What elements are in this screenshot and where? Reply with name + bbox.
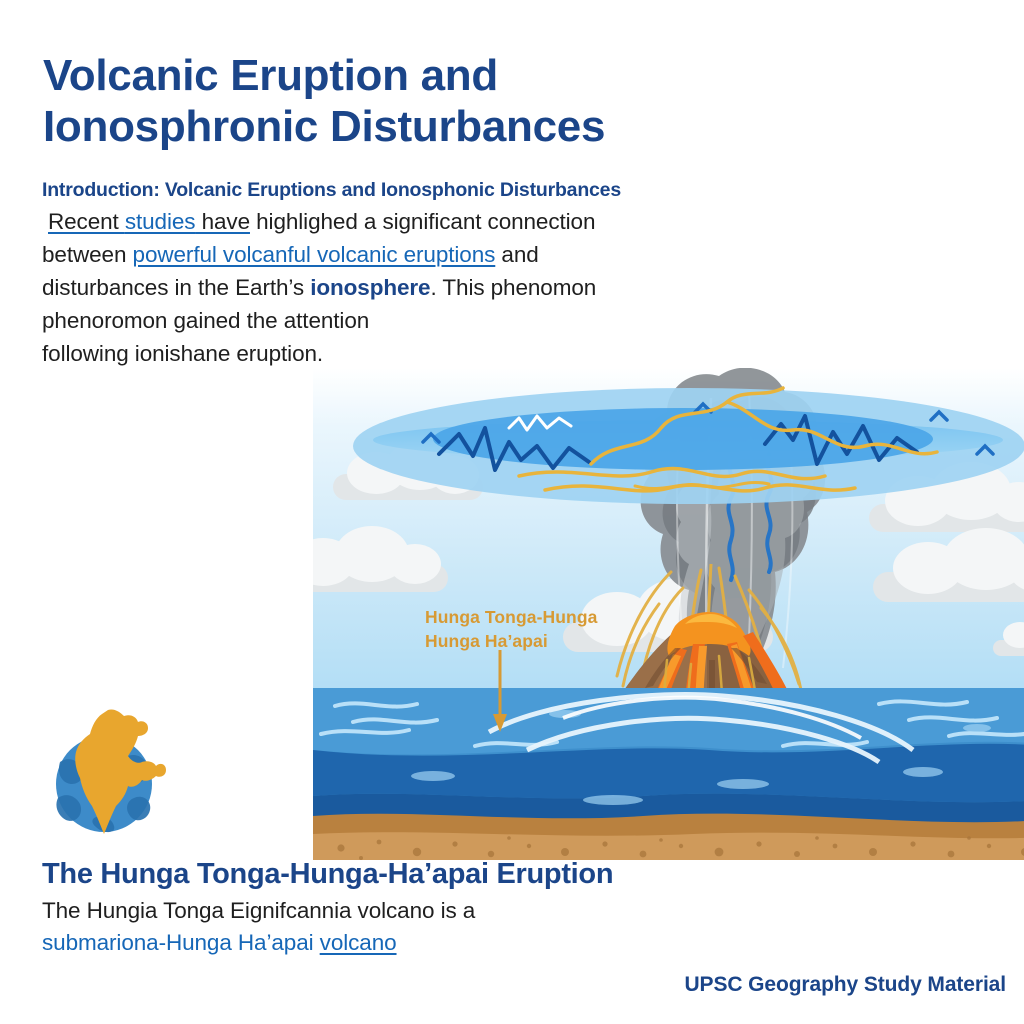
page-title-line-2: Ionosphronic Disturbances <box>43 102 843 153</box>
intro-line-5: following ionishane eruption. <box>42 338 842 371</box>
ocean <box>313 688 1024 860</box>
eruption-line-2-text: submariona-Hunga Ha’apai <box>42 930 320 955</box>
introduction-body: Recent studies have highlighed a signifi… <box>42 206 842 370</box>
eruption-line-1: The Hungia Tonga Eignifcannia volcano is… <box>42 895 842 928</box>
footer-note: UPSC Geography Study Material <box>684 973 1006 997</box>
intro-text-highlighted: highlighed a significant connection <box>250 209 595 234</box>
page-title-line-1: Volcanic Eruption and <box>43 51 498 100</box>
intro-line-1: Recent studies have highlighed a signifi… <box>42 206 842 239</box>
powerful-volcanic-eruptions-link[interactable]: powerful volcanful volcanic eruptions <box>133 242 496 267</box>
intro-text-and: and <box>495 242 538 267</box>
intro-text-disturbances: disturbances in the Earth’s <box>42 275 310 300</box>
intro-line-2: between powerful volcanful volcanic erup… <box>42 239 842 272</box>
intro-line-3: disturbances in the Earth’s ionosphere. … <box>42 272 842 305</box>
intro-text-this-phenomon: . This phenomon <box>430 275 596 300</box>
intro-text-have: have <box>195 209 250 234</box>
eruption-heading: The Hunga Tonga-Hunga-Ha’apai Eruption <box>42 857 842 892</box>
intro-text-between: between <box>42 242 133 267</box>
introduction-heading: Introduction: Volcanic Eruptions and Ion… <box>42 178 842 202</box>
studies-link[interactable]: studies <box>125 209 196 234</box>
intro-text-recent: Recent <box>48 209 125 234</box>
volcano-label: Hunga Tonga-Hunga Hunga Ha’apai <box>425 606 597 653</box>
volcano-ionosphere-illustration: Hunga Tonga-Hunga Hunga Ha’apai <box>313 368 1024 860</box>
eruption-line-2: submariona-Hunga Ha’apai volcano <box>42 927 842 960</box>
introduction-section: Introduction: Volcanic Eruptions and Ion… <box>42 178 842 371</box>
intro-line-4: phenoromon gained the attention <box>42 305 842 338</box>
intro-text-ionosphere: ionosphere <box>310 275 430 300</box>
eruption-section: The Hunga Tonga-Hunga-Ha’apai Eruption T… <box>42 857 842 960</box>
ionosphere-waves <box>313 368 1024 548</box>
india-globe-logo <box>42 706 172 838</box>
label-pointer-arrow <box>491 650 517 736</box>
page-title: Volcanic Eruption and Ionosphronic Distu… <box>43 51 843 152</box>
volcano-link[interactable]: volcano <box>320 930 397 955</box>
ocean-layers <box>313 688 1024 860</box>
